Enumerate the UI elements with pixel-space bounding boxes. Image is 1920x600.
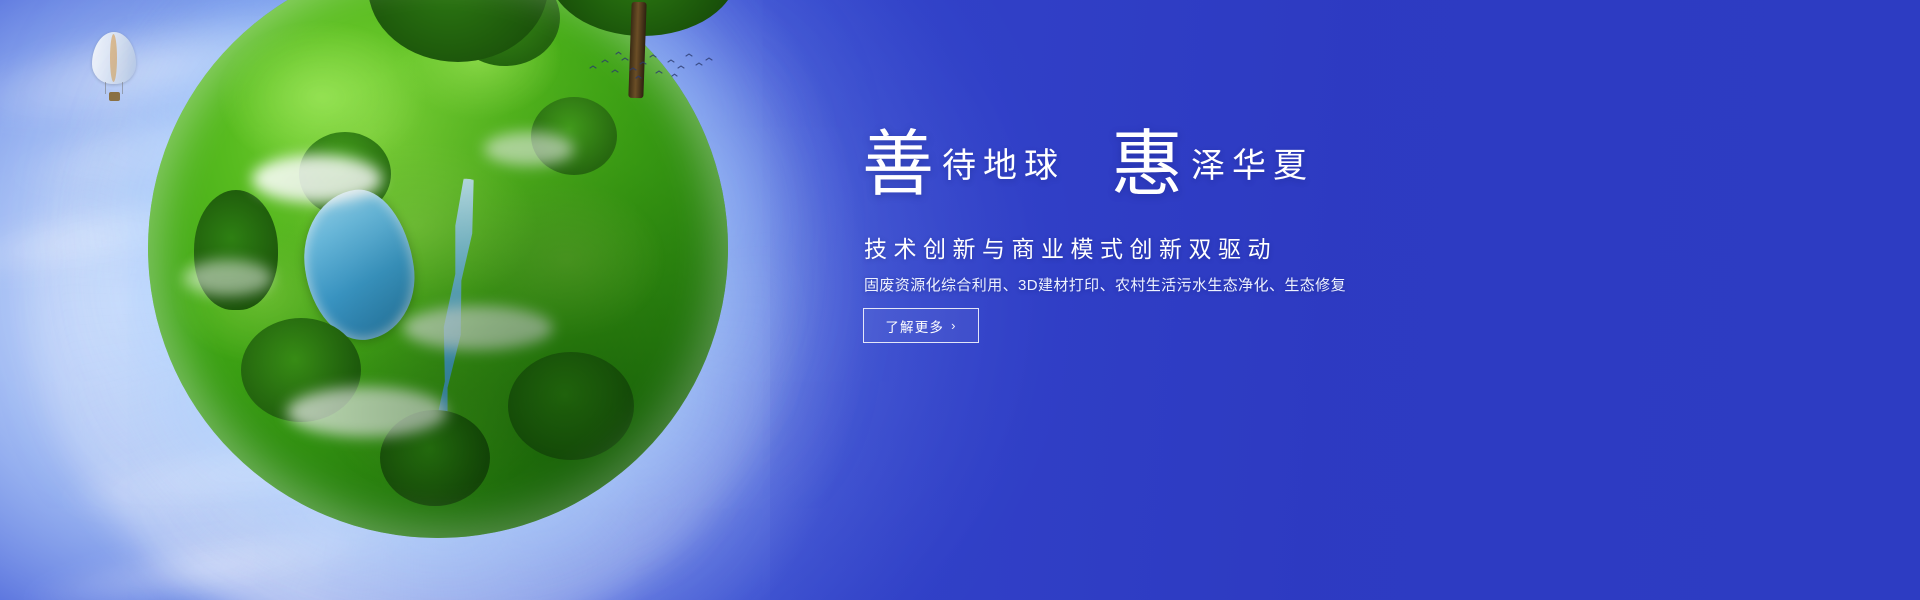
tree-icon <box>241 318 361 422</box>
headline-part1-small: 待地球 <box>942 149 1065 183</box>
balloon-basket <box>109 92 120 101</box>
learn-more-label: 了解更多 <box>885 316 944 336</box>
cloud-wisp <box>183 260 273 296</box>
banner-tagline: 固废资源化综合利用、3D建材打印、农村生活污水生态净化、生态修复 <box>864 274 1346 295</box>
chevron-right-icon: › <box>951 318 957 333</box>
tree-icon <box>368 0 548 62</box>
tree-icon <box>299 132 391 216</box>
learn-more-button[interactable]: 了解更多 › <box>863 308 979 343</box>
tree-icon <box>380 410 490 506</box>
river-shape <box>417 177 490 480</box>
cloud-wisp <box>484 132 574 166</box>
cloud-wisp <box>287 387 447 437</box>
balloon-stripe <box>110 34 117 82</box>
hero-banner: 善 待地球 惠 泽华夏 技术创新与商业模式创新双驱动 固废资源化综合利用、3D建… <box>0 0 1920 600</box>
headline-part2-small: 泽华夏 <box>1191 149 1314 183</box>
tree-icon <box>508 352 634 460</box>
hot-air-balloon-icon <box>92 32 136 108</box>
cloud-wisp <box>252 155 382 203</box>
headline-part2-big: 惠 <box>1111 132 1183 197</box>
tree-icon <box>194 190 278 310</box>
banner-subtitle: 技术创新与商业模式创新双驱动 <box>864 230 1277 264</box>
lake-shape <box>295 183 423 347</box>
bird-flock-icon <box>586 48 716 88</box>
headline-part1-big: 善 <box>862 132 934 197</box>
tree-icon <box>450 0 560 66</box>
tree-icon <box>531 97 617 175</box>
cloud-wisp <box>403 306 553 350</box>
banner-content: 善 待地球 惠 泽华夏 技术创新与商业模式创新双驱动 固废资源化综合利用、3D建… <box>862 0 1562 600</box>
page-title: 善 待地球 惠 泽华夏 <box>862 132 1314 197</box>
